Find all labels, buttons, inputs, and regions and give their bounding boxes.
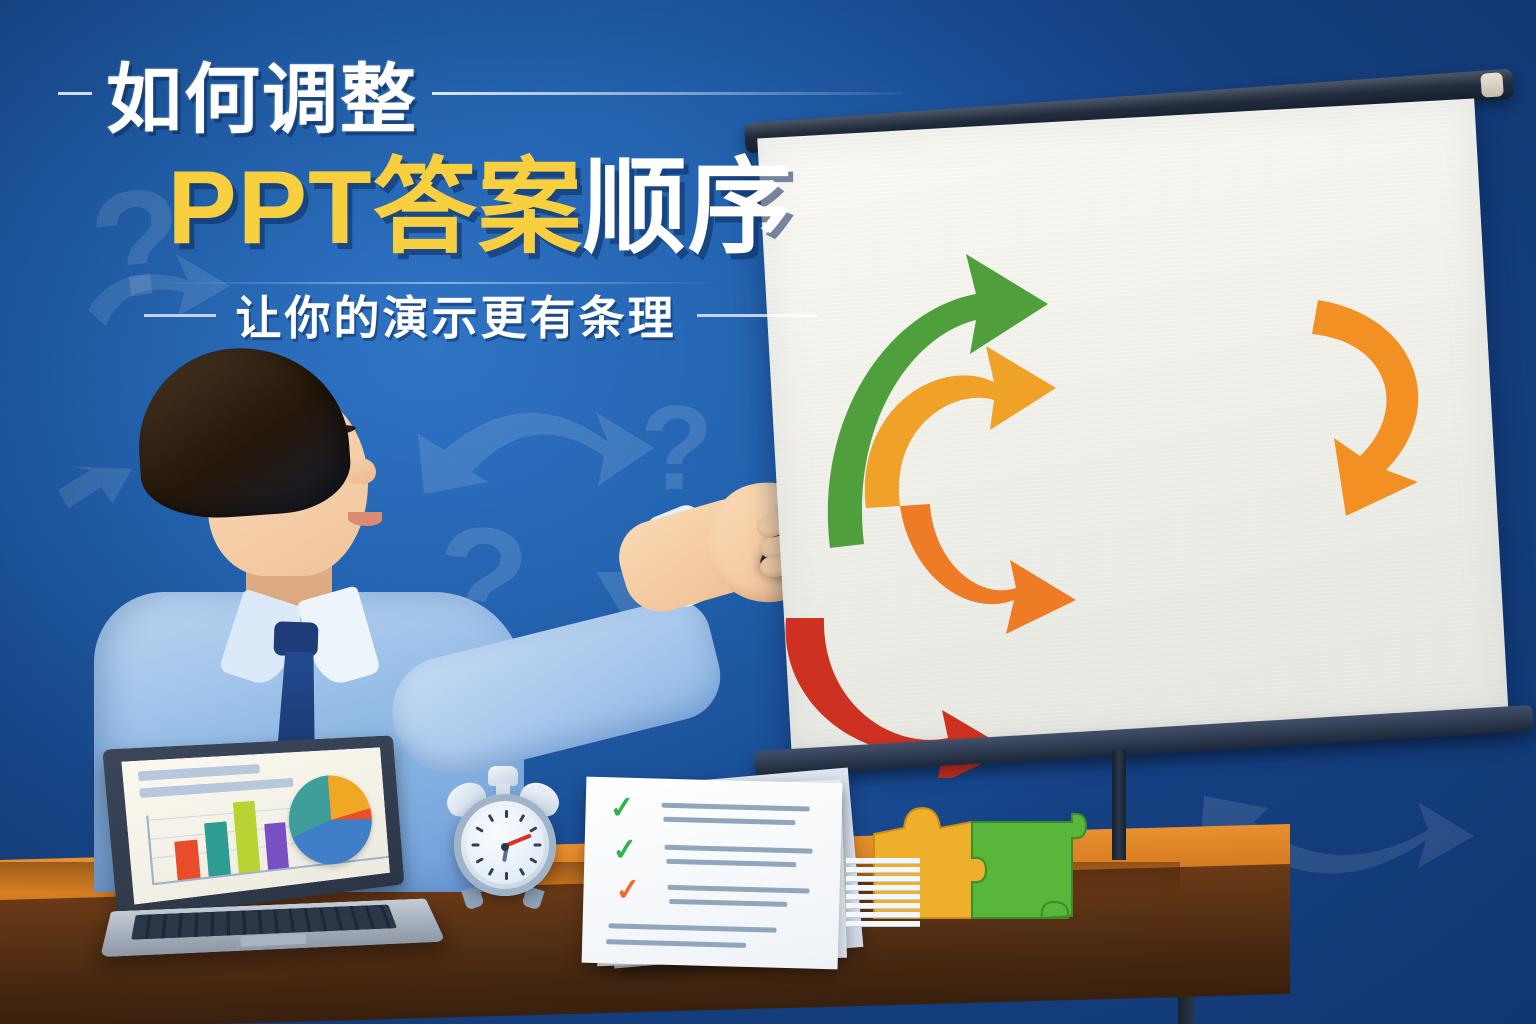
paper-stack <box>846 858 922 938</box>
title-primary: PPT答案 <box>167 150 582 266</box>
clock-tick <box>488 868 495 876</box>
clock-tick <box>519 868 526 876</box>
screen-stand-pole <box>1112 750 1126 860</box>
stack-sheet <box>846 858 920 864</box>
subtitle-rule-right <box>697 314 817 317</box>
screen-text-line <box>139 778 293 798</box>
laptop-screen <box>121 747 390 904</box>
clock-tick <box>505 810 508 818</box>
paper-text-line <box>606 939 746 948</box>
paper-text-line <box>662 803 810 812</box>
main-title: PPT答案顺序 <box>0 152 960 264</box>
chart-bar <box>204 821 231 876</box>
alarm-clock <box>444 766 562 916</box>
checkmark-icon: ✓ <box>609 793 636 825</box>
laptop[interactable] <box>108 742 438 974</box>
stack-sheet <box>846 903 920 909</box>
tie-knot <box>273 621 318 657</box>
chart-bar <box>264 822 289 870</box>
clock-case <box>454 794 556 896</box>
chart-y-axis <box>146 816 154 886</box>
nose <box>348 458 376 484</box>
chart-bar <box>174 840 200 881</box>
checkmark-icon: ✓ <box>611 835 638 867</box>
clock-tick <box>475 857 483 864</box>
subtitle-row: 让你的演示更有条理 <box>0 282 960 348</box>
hair <box>132 341 353 523</box>
stack-sheet <box>846 867 920 873</box>
stack-sheet <box>846 921 920 927</box>
stack-sheet <box>846 876 920 882</box>
clock-tick <box>529 826 537 833</box>
kicker-row: 如何调整 <box>0 38 960 148</box>
paper-text-line <box>666 859 796 867</box>
kicker-rule-right <box>432 92 902 95</box>
clock-tick <box>519 814 526 822</box>
chart-pie <box>285 773 375 869</box>
paper-text-line <box>609 923 777 932</box>
paper-text-line <box>665 845 813 854</box>
title-block: 如何调整 PPT答案顺序 让你的演示更有条理 <box>0 38 960 348</box>
screen-text-line <box>138 764 260 781</box>
laptop-trackpad[interactable] <box>240 933 307 946</box>
paper-sheet-front: ✓ ✓ ✓ <box>582 777 843 970</box>
mouth <box>348 512 382 526</box>
clock-tick <box>472 844 480 847</box>
clock-tick <box>534 844 542 847</box>
stack-sheet <box>846 894 920 900</box>
kicker-text: 如何调整 <box>106 38 418 148</box>
chart-gridline <box>147 807 298 821</box>
laptop-lid <box>102 735 404 921</box>
clock-tick <box>529 857 537 864</box>
subtitle-text: 让你的演示更有条理 <box>236 282 677 348</box>
paper-text-line <box>668 885 810 894</box>
poster-canvas: ? ? ? ? 如何调整 PPT答案顺序 让你的演示更有条理 <box>0 0 1536 1024</box>
subtitle-rule-left <box>144 314 216 317</box>
puzzle-piece-green-icon <box>972 814 1086 918</box>
clock-center-pin <box>501 843 509 851</box>
clock-tick <box>505 872 508 880</box>
title-secondary: 顺序 <box>583 150 793 266</box>
checkmark-icon: ✓ <box>614 875 641 907</box>
clock-tick <box>488 814 495 822</box>
paper-text-line <box>663 817 795 825</box>
kicker-rule-left <box>58 92 92 95</box>
clock-face <box>466 806 544 884</box>
checklist-papers: ✓ ✓ ✓ <box>580 762 910 982</box>
stack-sheet <box>846 912 920 918</box>
clock-tick <box>475 826 483 833</box>
paper-text-line <box>669 899 787 907</box>
stack-sheet <box>846 885 920 891</box>
